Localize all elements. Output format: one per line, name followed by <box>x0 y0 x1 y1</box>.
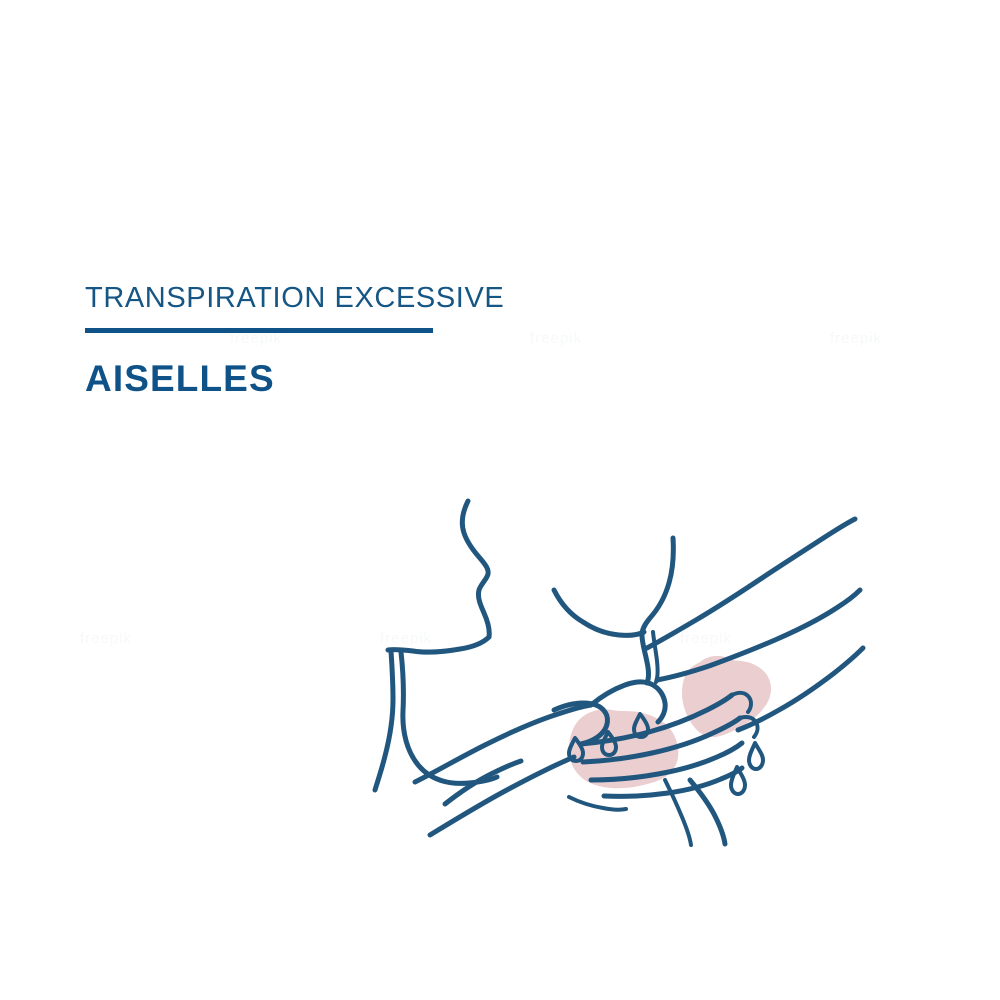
illustration-svg <box>355 480 885 850</box>
watermark-text: freepik <box>80 630 132 647</box>
shoulder-contour <box>388 637 489 652</box>
palm-crease <box>569 797 626 810</box>
title-divider-rule <box>85 328 433 333</box>
underarm-illustration <box>355 480 885 850</box>
neck-contour <box>462 501 489 637</box>
raised-arm-inner-edge <box>657 590 860 680</box>
raised-arm-top-edge <box>647 519 855 648</box>
droplet-right-1 <box>749 743 763 769</box>
poster-eyebrow: TRANSPIRATION EXCESSIVE <box>85 283 685 314</box>
poster-canvas: TRANSPIRATION EXCESSIVE AISELLES <box>0 0 1000 1000</box>
held-arm-outer-edge <box>690 780 725 844</box>
chest-inner-curve <box>375 651 393 790</box>
watermark-text: freepik <box>830 330 882 347</box>
title-block: TRANSPIRATION EXCESSIVE AISELLES <box>85 283 685 399</box>
body-outlines <box>375 501 863 845</box>
droplet-right-2 <box>731 767 745 794</box>
upper-chest-to-armpit <box>554 590 644 635</box>
poster-headline: AISELLES <box>85 360 685 399</box>
armpit-crease-inner <box>653 632 658 682</box>
